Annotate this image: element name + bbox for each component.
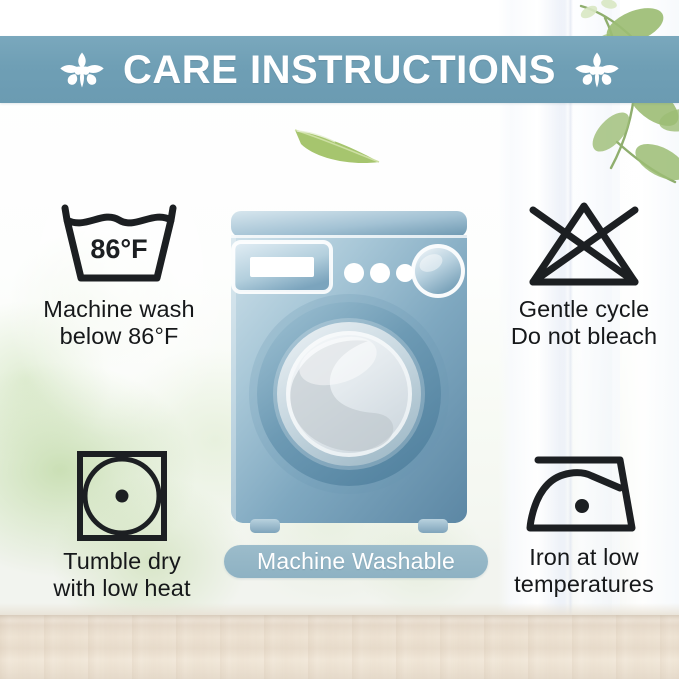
iron-one-dot-icon: [520, 448, 648, 540]
table-edge-shadow: [0, 603, 679, 615]
care-symbol-no-bleach: Gentle cycle Do not bleach: [492, 196, 676, 351]
wood-grain-texture: [0, 615, 679, 679]
wash-tub-icon: 86°F: [51, 196, 187, 292]
washing-machine-illustration: [228, 209, 470, 540]
control-button-2: [370, 263, 390, 283]
tumble-dry-low-icon: [72, 448, 172, 544]
machine-washable-label: Machine Washable: [257, 550, 455, 573]
machine-foot-left: [250, 519, 280, 533]
care-symbol-machine-wash: 86°F Machine wash below 86°F: [14, 196, 224, 351]
care-symbol-iron-low: Iron at low temperatures: [492, 448, 676, 599]
header-banner: CARE INSTRUCTIONS: [0, 36, 679, 103]
fleur-de-lis-icon-left: [57, 49, 107, 91]
page-title: CARE INSTRUCTIONS: [123, 50, 556, 90]
fleur-de-lis-icon-right: [572, 49, 622, 91]
care-symbol-tumble-dry: Tumble dry with low heat: [24, 448, 220, 603]
care-instructions-infographic: CARE INSTRUCTIONS 86°F Machine wash belo…: [0, 0, 679, 679]
machine-foot-right: [418, 519, 448, 533]
care-symbol-caption-no-bleach: Gentle cycle Do not bleach: [492, 296, 676, 351]
triangle-crossed-out-icon: [519, 196, 649, 292]
care-symbol-caption-tumble-dry: Tumble dry with low heat: [24, 548, 220, 603]
detergent-drawer-slot: [250, 257, 314, 277]
machine-washable-badge: Machine Washable: [224, 545, 488, 578]
wash-temperature-value: 86°F: [90, 234, 147, 264]
care-symbol-caption-iron-low: Iron at low temperatures: [492, 544, 676, 599]
control-button-1: [344, 263, 364, 283]
floating-leaf-icon: [291, 118, 387, 170]
care-symbol-caption-machine-wash: Machine wash below 86°F: [14, 296, 224, 351]
